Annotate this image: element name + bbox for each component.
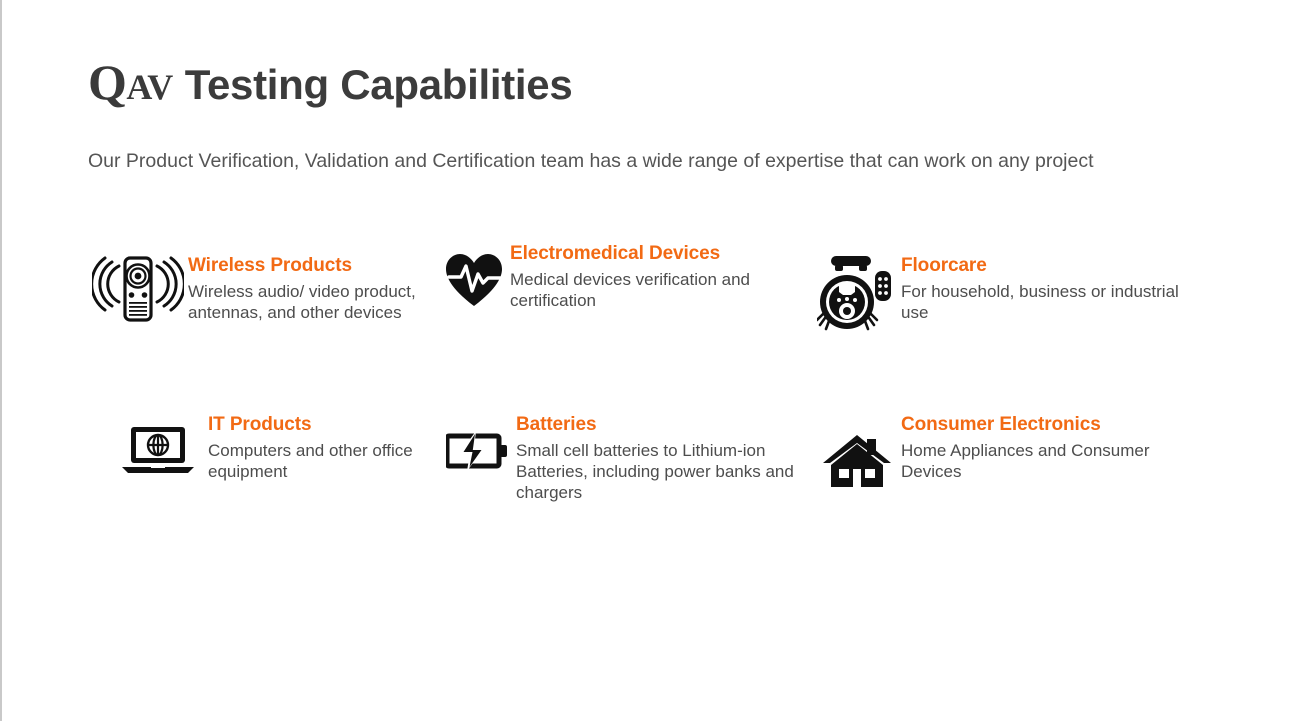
capability-description: For household, business or industrial us… — [901, 282, 1208, 323]
capability-text: Batteries Small cell batteries to Lithiu… — [516, 415, 813, 504]
capability-title: Consumer Electronics — [901, 415, 1208, 435]
capability-item-wireless-products: Wireless Products Wireless audio/ video … — [88, 240, 438, 328]
capability-text: Wireless Products Wireless audio/ video … — [188, 240, 438, 324]
battery-bolt-icon — [438, 415, 516, 471]
laptop-globe-icon — [88, 415, 208, 475]
capability-title: Wireless Products — [188, 256, 438, 276]
logo-letter-q: Q — [88, 54, 126, 110]
capabilities-row-1: Wireless Products Wireless audio/ video … — [88, 240, 1208, 415]
qav-logo: QAV — [88, 57, 173, 107]
capabilities-grid: Wireless Products Wireless audio/ video … — [88, 240, 1208, 504]
heart-pulse-icon — [438, 240, 510, 308]
capability-description: Small cell batteries to Lithium-ion Batt… — [516, 441, 813, 503]
capability-item-consumer-electronics: Consumer Electronics Home Appliances and… — [813, 415, 1208, 489]
logo-letters-av: AV — [126, 67, 172, 107]
house-icon — [813, 415, 901, 489]
capability-title: Electromedical Devices — [510, 244, 813, 264]
capability-text: Floorcare For household, business or ind… — [901, 240, 1208, 324]
capability-item-it-products: IT Products Computers and other office e… — [88, 415, 438, 483]
robot-vacuum-icon — [813, 240, 901, 332]
capability-description: Computers and other office equipment — [208, 441, 438, 482]
capabilities-row-2: IT Products Computers and other office e… — [88, 415, 1208, 504]
slide-header: QAV Testing Capabilities — [88, 36, 572, 134]
page-subtitle: Our Product Verification, Validation and… — [88, 148, 1148, 176]
page-title: Testing Capabilities — [185, 64, 573, 106]
capability-item-batteries: Batteries Small cell batteries to Lithiu… — [438, 415, 813, 504]
capability-text: Electromedical Devices Medical devices v… — [510, 240, 813, 312]
capability-title: Floorcare — [901, 256, 1208, 276]
wireless-device-icon — [88, 240, 188, 328]
capability-item-floorcare: Floorcare For household, business or ind… — [813, 240, 1208, 332]
capability-text: Consumer Electronics Home Appliances and… — [901, 415, 1208, 483]
capability-item-electromedical-devices: Electromedical Devices Medical devices v… — [438, 240, 813, 312]
capability-text: IT Products Computers and other office e… — [208, 415, 438, 483]
capability-title: IT Products — [208, 415, 438, 435]
capability-title: Batteries — [516, 415, 813, 435]
capability-description: Medical devices verification and certifi… — [510, 270, 813, 311]
capability-description: Wireless audio/ video product, antennas,… — [188, 282, 438, 323]
capability-description: Home Appliances and Consumer Devices — [901, 441, 1208, 482]
slide-canvas: QAV Testing Capabilities Our Product Ver… — [0, 0, 1294, 721]
